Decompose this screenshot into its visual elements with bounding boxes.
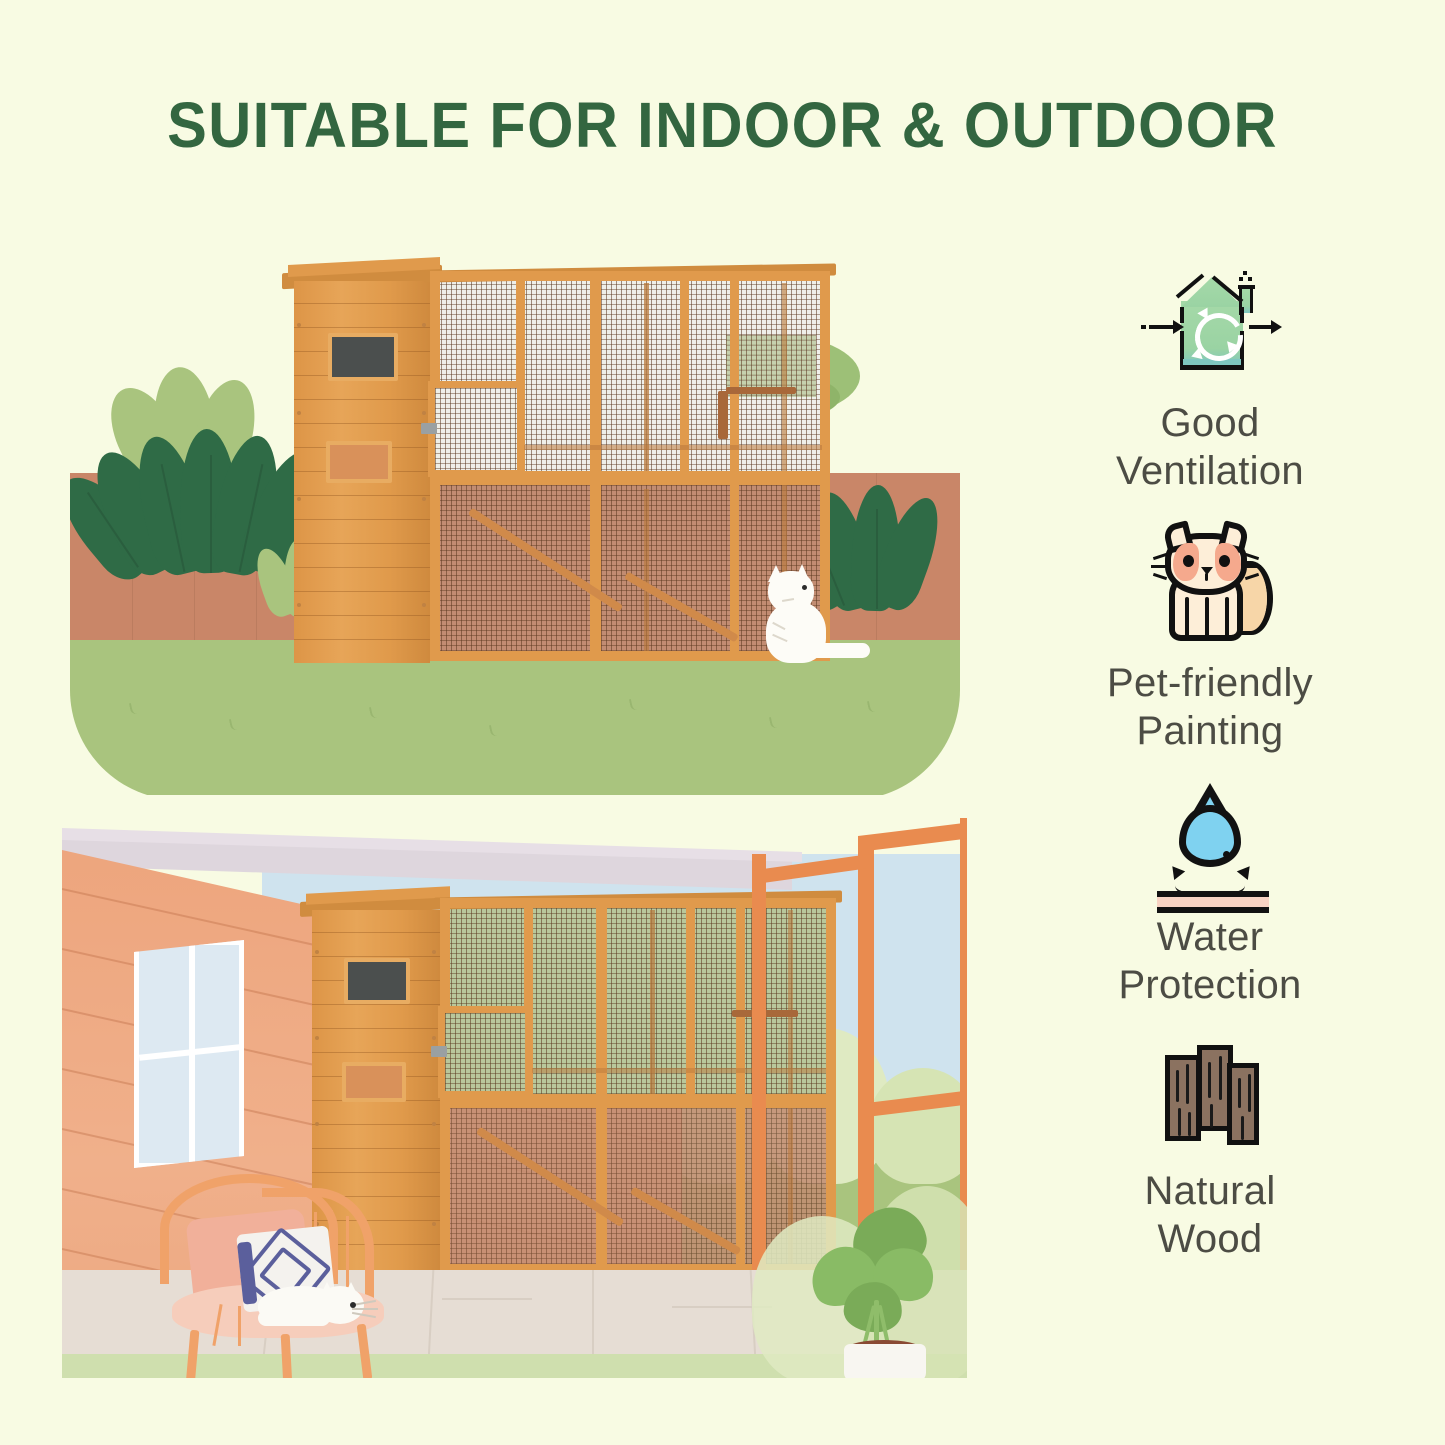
feature-label: Good Ventilation: [1010, 399, 1410, 495]
feature-label: Natural Wood: [1010, 1167, 1410, 1263]
cage-access-door[interactable]: [428, 381, 524, 477]
feature-label-line1: Pet-friendly: [1010, 659, 1410, 707]
page-title: SUITABLE FOR INDOOR & OUTDOOR: [51, 88, 1395, 162]
wood-planks-icon: [1135, 1033, 1285, 1153]
indoor-scene: [62, 818, 967, 1378]
cat-house-outdoor: [280, 255, 840, 663]
feature-label-line2: Protection: [1010, 961, 1410, 1009]
feature-label: Water Protection: [1010, 913, 1410, 1009]
water-droplet-icon: [1135, 779, 1285, 899]
house-vent-window-indoor: [344, 958, 410, 1004]
feature-label-line2: Painting: [1010, 707, 1410, 755]
feature-pet-friendly-painting: Pet-friendly Painting: [1010, 519, 1410, 755]
sleeping-cat: [258, 1278, 376, 1330]
white-cat-outdoor: [758, 555, 868, 661]
house-door-panel-indoor: [342, 1062, 406, 1102]
cat-run-cage-indoor: [440, 898, 840, 1278]
feature-label-line1: Natural: [1010, 1167, 1410, 1215]
house-ventilation-icon: [1135, 265, 1285, 385]
door-latch-indoor[interactable]: [431, 1046, 447, 1057]
feature-label-line2: Ventilation: [1010, 447, 1410, 495]
feature-water-protection: Water Protection: [1010, 779, 1410, 1009]
feature-label: Pet-friendly Painting: [1010, 659, 1410, 755]
feature-label-line1: Good: [1010, 399, 1410, 447]
feature-label-line2: Wood: [1010, 1215, 1410, 1263]
cage-access-door-indoor[interactable]: [438, 1006, 532, 1098]
house-vent-window: [328, 333, 398, 381]
feature-good-ventilation: Good Ventilation: [1010, 265, 1410, 495]
door-latch[interactable]: [421, 423, 437, 434]
feature-natural-wood: Natural Wood: [1010, 1033, 1410, 1263]
outdoor-scene: [70, 255, 960, 795]
monstera-plant: [800, 1204, 967, 1378]
grass-lawn: [70, 640, 960, 795]
features-list: Good Ventilation: [1010, 265, 1410, 1287]
cat-icon: [1135, 519, 1285, 645]
plant-pot: [844, 1344, 926, 1378]
infographic-page: SUITABLE FOR INDOOR & OUTDOOR: [0, 0, 1445, 1445]
feature-label-line1: Water: [1010, 913, 1410, 961]
wicker-chair: [154, 1174, 424, 1378]
house-tower: [294, 281, 430, 663]
house-door-panel: [326, 441, 392, 483]
wall-window: [134, 940, 244, 1168]
